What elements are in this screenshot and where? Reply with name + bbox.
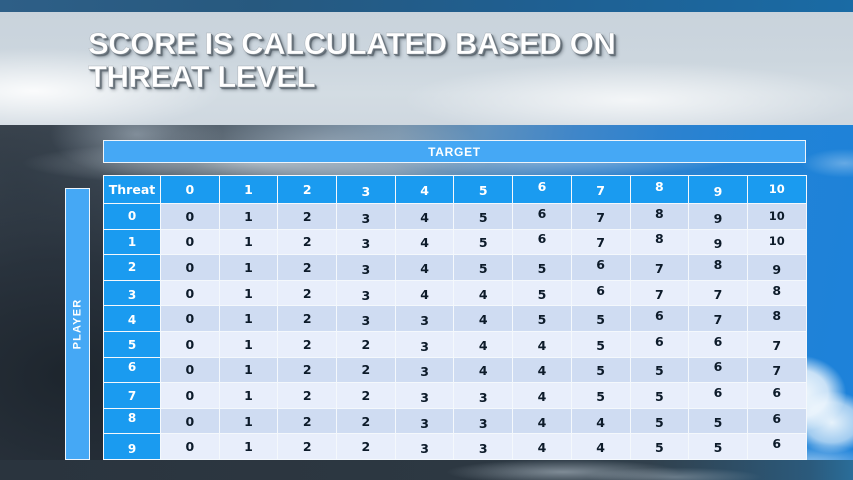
matrix-cell-value: 2 <box>362 414 371 429</box>
matrix-cell-value: 7 <box>714 287 723 302</box>
matrix-row-header-1: 1 <box>104 229 161 255</box>
matrix-cell: 1 <box>219 331 278 357</box>
matrix-cell-value: 2 <box>303 234 312 249</box>
matrix-col-header-text: 0 <box>185 182 194 197</box>
matrix-cell: 2 <box>278 357 337 383</box>
matrix-cell: 8 <box>689 255 748 281</box>
matrix-cell-value: 5 <box>655 440 664 455</box>
matrix-cell-value: 3 <box>420 339 429 354</box>
matrix-cell: 0 <box>161 434 220 460</box>
target-axis-label-bar: TARGET <box>103 140 806 163</box>
matrix-cell-value: 5 <box>596 363 605 378</box>
matrix-cell-value: 0 <box>185 234 194 249</box>
matrix-cell-value: 1 <box>244 414 253 429</box>
matrix-col-header-text: 5 <box>479 183 488 198</box>
matrix-cell: 5 <box>630 357 689 383</box>
matrix-cell-value: 4 <box>420 287 429 302</box>
table-row: 0012345678910 <box>104 204 807 230</box>
matrix-cell: 3 <box>337 229 396 255</box>
matrix-cell-value: 6 <box>772 411 781 426</box>
matrix-cell-value: 4 <box>596 415 605 430</box>
matrix-cell: 2 <box>337 383 396 409</box>
matrix-cell: 5 <box>513 255 572 281</box>
matrix-cell-value: 3 <box>362 236 371 251</box>
matrix-cell: 9 <box>747 255 806 281</box>
table-row: 801223344556 <box>104 408 807 434</box>
matrix-cell: 4 <box>571 408 630 434</box>
matrix-cell-value: 5 <box>655 389 664 404</box>
matrix-cell: 3 <box>395 357 454 383</box>
matrix-cell-value: 3 <box>479 390 488 405</box>
matrix-cell: 6 <box>689 331 748 357</box>
matrix-cell-value: 10 <box>769 209 785 223</box>
matrix-cell: 3 <box>337 255 396 281</box>
matrix-cell: 4 <box>454 331 513 357</box>
matrix-cell-value: 1 <box>244 362 253 377</box>
matrix-cell: 2 <box>278 229 337 255</box>
matrix-cell-value: 2 <box>362 439 371 454</box>
matrix-cell-value: 0 <box>185 362 194 377</box>
matrix-col-header-9: 9 <box>689 176 748 204</box>
matrix-cell-value: 0 <box>185 260 194 275</box>
matrix-cell-value: 2 <box>303 388 312 403</box>
matrix-cell: 2 <box>278 408 337 434</box>
matrix-cell-value: 6 <box>772 385 781 400</box>
matrix-cell-value: 7 <box>772 338 781 353</box>
matrix-cell: 6 <box>747 434 806 460</box>
matrix-cell: 5 <box>454 204 513 230</box>
matrix-cell-value: 2 <box>303 286 312 301</box>
matrix-cell: 1 <box>219 357 278 383</box>
table-row: 601223445567 <box>104 357 807 383</box>
matrix-cell-value: 2 <box>303 337 312 352</box>
matrix-col-header-10: 10 <box>747 176 806 204</box>
matrix-cell-value: 1 <box>244 234 253 249</box>
matrix-row-header-text: 3 <box>128 288 136 302</box>
matrix-col-header-2: 2 <box>278 176 337 204</box>
matrix-cell: 4 <box>513 434 572 460</box>
matrix-cell-value: 7 <box>596 235 605 250</box>
matrix-cell-value: 7 <box>655 287 664 302</box>
matrix-row-header-0: 0 <box>104 204 161 230</box>
matrix-cell-value: 6 <box>772 436 781 451</box>
matrix-cell: 3 <box>337 204 396 230</box>
matrix-cell: 5 <box>513 306 572 332</box>
matrix-cell: 10 <box>747 229 806 255</box>
matrix-col-header-text: 6 <box>538 179 547 194</box>
matrix-col-header-6: 6 <box>513 176 572 204</box>
matrix-cell: 1 <box>219 280 278 306</box>
matrix-col-header-text: 7 <box>596 183 605 198</box>
matrix-cell: 0 <box>161 204 220 230</box>
matrix-row-header-5: 5 <box>104 331 161 357</box>
matrix-cell: 3 <box>395 331 454 357</box>
matrix-cell-value: 5 <box>596 312 605 327</box>
matrix-cell-value: 1 <box>244 311 253 326</box>
matrix-cell-value: 9 <box>714 211 723 226</box>
matrix-cell: 0 <box>161 229 220 255</box>
matrix-cell: 4 <box>513 357 572 383</box>
matrix-cell-value: 3 <box>362 313 371 328</box>
matrix-cell-value: 4 <box>538 415 547 430</box>
matrix-cell-value: 3 <box>420 390 429 405</box>
matrix-cell-value: 5 <box>479 261 488 276</box>
matrix-cell-value: 2 <box>303 362 312 377</box>
matrix-cell: 6 <box>513 229 572 255</box>
matrix-cell: 1 <box>219 306 278 332</box>
matrix-cell-value: 8 <box>772 283 781 298</box>
matrix-cell: 6 <box>630 331 689 357</box>
matrix-row-header-text: 8 <box>128 411 136 425</box>
matrix-cell: 6 <box>689 383 748 409</box>
matrix-cell-value: 8 <box>772 308 781 323</box>
matrix-cell: 2 <box>278 280 337 306</box>
matrix-cell-value: 8 <box>655 206 664 221</box>
matrix-cell-value: 1 <box>244 260 253 275</box>
player-axis-label-bar: PLAYER <box>65 188 90 460</box>
matrix-cell: 6 <box>571 255 630 281</box>
matrix-cell: 5 <box>571 331 630 357</box>
matrix-cell-value: 2 <box>303 311 312 326</box>
matrix-cell: 3 <box>395 434 454 460</box>
matrix-cell: 7 <box>630 280 689 306</box>
matrix-cell: 1 <box>219 255 278 281</box>
matrix-cell-value: 5 <box>714 440 723 455</box>
matrix-cell-value: 1 <box>244 388 253 403</box>
matrix-cell-value: 0 <box>185 414 194 429</box>
bottom-dark-band <box>0 460 853 480</box>
matrix-col-header-text: 10 <box>769 182 785 196</box>
matrix-cell-value: 3 <box>362 262 371 277</box>
matrix-cell-value: 1 <box>244 286 253 301</box>
matrix-row-header-3: 3 <box>104 280 161 306</box>
matrix-cell-value: 4 <box>538 440 547 455</box>
matrix-cell-value: 8 <box>714 257 723 272</box>
matrix-row-header-9: 9 <box>104 434 161 460</box>
matrix-cell-value: 4 <box>538 363 547 378</box>
matrix-cell-value: 6 <box>596 257 605 272</box>
matrix-cell-value: 4 <box>596 440 605 455</box>
matrix-cell: 1 <box>219 383 278 409</box>
matrix-cell-value: 5 <box>655 415 664 430</box>
matrix-cell: 3 <box>395 383 454 409</box>
matrix-cell: 3 <box>454 383 513 409</box>
matrix-cell: 10 <box>747 204 806 230</box>
matrix-cell-value: 2 <box>362 337 371 352</box>
matrix-cell: 3 <box>337 280 396 306</box>
matrix-cell-value: 4 <box>479 338 488 353</box>
matrix-cell-value: 5 <box>538 312 547 327</box>
matrix-cell-value: 3 <box>420 441 429 456</box>
matrix-cell: 1 <box>219 204 278 230</box>
matrix-cell: 0 <box>161 255 220 281</box>
matrix-cell-value: 6 <box>538 231 547 246</box>
matrix-row-header-text: 5 <box>128 338 136 352</box>
matrix-cell: 2 <box>278 434 337 460</box>
matrix-cell: 5 <box>689 434 748 460</box>
matrix-cell: 1 <box>219 408 278 434</box>
matrix-cell-value: 5 <box>655 363 664 378</box>
matrix-cell: 5 <box>571 383 630 409</box>
matrix-row-header-text: 2 <box>128 260 136 274</box>
table-row: 901223344556 <box>104 434 807 460</box>
matrix-cell-value: 3 <box>362 211 371 226</box>
matrix-cell: 7 <box>630 255 689 281</box>
matrix-cell: 6 <box>630 306 689 332</box>
table-row: 201234556789 <box>104 255 807 281</box>
matrix-cell: 9 <box>689 229 748 255</box>
matrix-header: Threat 012345678910 <box>104 176 807 204</box>
matrix-cell-value: 6 <box>714 359 723 374</box>
matrix-row-header-6: 6 <box>104 357 161 383</box>
matrix-cell-value: 2 <box>303 439 312 454</box>
matrix-cell-value: 6 <box>655 334 664 349</box>
matrix-row-header-text: 9 <box>128 442 136 456</box>
matrix-cell-value: 4 <box>538 389 547 404</box>
matrix-cell: 5 <box>630 383 689 409</box>
matrix-col-header-8: 8 <box>630 176 689 204</box>
matrix-cell: 6 <box>513 204 572 230</box>
matrix-cell: 7 <box>689 306 748 332</box>
matrix-header-row: Threat 012345678910 <box>104 176 807 204</box>
matrix-col-header-text: 3 <box>362 184 371 199</box>
target-axis-label-text: TARGET <box>428 145 481 159</box>
matrix-cell: 0 <box>161 357 220 383</box>
matrix-cell: 5 <box>630 434 689 460</box>
matrix-cell: 4 <box>454 280 513 306</box>
table-row: 1012345678910 <box>104 229 807 255</box>
table-row: 401233455678 <box>104 306 807 332</box>
player-axis-label-text: PLAYER <box>72 299 84 350</box>
matrix-cell: 0 <box>161 408 220 434</box>
matrix-cell: 3 <box>395 306 454 332</box>
matrix-cell: 2 <box>278 306 337 332</box>
matrix-cell: 7 <box>747 331 806 357</box>
matrix-cell: 4 <box>454 357 513 383</box>
matrix-cell-value: 6 <box>655 308 664 323</box>
matrix-cell: 4 <box>513 331 572 357</box>
matrix-cell: 2 <box>337 408 396 434</box>
matrix-cell-value: 7 <box>772 363 781 378</box>
matrix-cell-value: 2 <box>362 388 371 403</box>
matrix-cell: 7 <box>689 280 748 306</box>
matrix-cell-value: 2 <box>303 209 312 224</box>
matrix-cell-value: 9 <box>772 262 781 277</box>
matrix-cell: 6 <box>747 383 806 409</box>
matrix-cell: 2 <box>278 331 337 357</box>
matrix-cell: 5 <box>571 357 630 383</box>
matrix-cell-value: 4 <box>479 287 488 302</box>
matrix-cell: 5 <box>630 408 689 434</box>
matrix-cell: 8 <box>747 280 806 306</box>
matrix-cell: 4 <box>571 434 630 460</box>
matrix-cell: 8 <box>630 204 689 230</box>
matrix-cell-value: 2 <box>303 260 312 275</box>
matrix-cell: 5 <box>454 255 513 281</box>
matrix-cell: 6 <box>747 408 806 434</box>
matrix-col-header-3: 3 <box>337 176 396 204</box>
matrix-corner-header: Threat <box>104 176 161 204</box>
matrix-row-header-text: 6 <box>128 360 136 374</box>
matrix-cell: 2 <box>337 331 396 357</box>
matrix-cell: 6 <box>571 280 630 306</box>
matrix-cell: 0 <box>161 280 220 306</box>
matrix-cell-value: 0 <box>185 286 194 301</box>
matrix-cell: 5 <box>454 229 513 255</box>
matrix-col-header-text: 2 <box>303 182 312 197</box>
matrix-cell-value: 4 <box>420 210 429 225</box>
matrix-cell-value: 5 <box>596 389 605 404</box>
matrix-cell-value: 0 <box>185 311 194 326</box>
matrix-cell: 8 <box>747 306 806 332</box>
matrix-cell-value: 3 <box>479 416 488 431</box>
matrix-cell: 2 <box>278 383 337 409</box>
matrix-cell: 1 <box>219 434 278 460</box>
matrix-cell-value: 3 <box>362 288 371 303</box>
matrix-cell: 2 <box>278 204 337 230</box>
matrix-row-header-7: 7 <box>104 383 161 409</box>
matrix-row-header-text: 7 <box>128 389 136 403</box>
top-sky-strip <box>0 0 853 12</box>
matrix-cell: 1 <box>219 229 278 255</box>
matrix-cell-value: 0 <box>185 388 194 403</box>
matrix-cell: 5 <box>513 280 572 306</box>
matrix-cell: 5 <box>689 408 748 434</box>
matrix-cell: 0 <box>161 383 220 409</box>
matrix-cell-value: 7 <box>596 210 605 225</box>
matrix-cell-value: 5 <box>714 415 723 430</box>
matrix-cell: 3 <box>454 408 513 434</box>
slide-canvas: SCORE IS CALCULATED BASED ON THREAT LEVE… <box>0 0 853 480</box>
matrix-col-header-5: 5 <box>454 176 513 204</box>
matrix-row-header-8: 8 <box>104 408 161 434</box>
matrix-cell-value: 1 <box>244 209 253 224</box>
matrix-cell: 5 <box>571 306 630 332</box>
matrix-row-header-text: 0 <box>128 209 136 223</box>
matrix-cell: 2 <box>337 357 396 383</box>
matrix-cell: 7 <box>747 357 806 383</box>
score-matrix-table: Threat 012345678910 00123456789101012345… <box>103 175 807 480</box>
matrix-cell-value: 1 <box>244 439 253 454</box>
matrix-cell-value: 6 <box>714 385 723 400</box>
matrix-cell-value: 0 <box>185 209 194 224</box>
matrix-cell-value: 3 <box>420 416 429 431</box>
matrix-cell-value: 4 <box>479 312 488 327</box>
matrix-col-header-text: 4 <box>420 183 429 198</box>
matrix-cell-value: 5 <box>538 287 547 302</box>
matrix-cell: 8 <box>630 229 689 255</box>
matrix-cell: 2 <box>337 434 396 460</box>
matrix-cell-value: 0 <box>185 337 194 352</box>
matrix-cell: 3 <box>395 408 454 434</box>
matrix-cell-value: 0 <box>185 439 194 454</box>
matrix-row-header-2: 2 <box>104 255 161 281</box>
matrix-cell: 6 <box>689 357 748 383</box>
matrix-col-header-0: 0 <box>161 176 220 204</box>
matrix-cell: 0 <box>161 331 220 357</box>
matrix-body: 0012345678910101234567891020123455678930… <box>104 204 807 480</box>
matrix-cell-value: 6 <box>538 206 547 221</box>
matrix-row-header-text: 4 <box>128 313 136 327</box>
matrix-cell-value: 3 <box>479 441 488 456</box>
matrix-cell-value: 4 <box>420 261 429 276</box>
matrix-cell-value: 2 <box>362 362 371 377</box>
matrix-cell-value: 5 <box>538 261 547 276</box>
matrix-cell: 3 <box>337 306 396 332</box>
matrix-col-header-text: 1 <box>244 182 253 197</box>
matrix-cell: 4 <box>454 306 513 332</box>
matrix-cell-value: 6 <box>714 334 723 349</box>
matrix-cell-value: 4 <box>538 338 547 353</box>
matrix-row-header-text: 1 <box>128 235 136 249</box>
matrix-cell: 0 <box>161 306 220 332</box>
matrix-row-header-4: 4 <box>104 306 161 332</box>
matrix-cell-value: 6 <box>596 283 605 298</box>
matrix-col-header-4: 4 <box>395 176 454 204</box>
matrix-cell: 4 <box>513 383 572 409</box>
matrix-cell: 3 <box>454 434 513 460</box>
matrix-cell-value: 8 <box>655 231 664 246</box>
matrix-col-header-7: 7 <box>571 176 630 204</box>
matrix-cell-value: 4 <box>479 363 488 378</box>
matrix-cell-value: 1 <box>244 337 253 352</box>
matrix-cell-value: 5 <box>479 210 488 225</box>
matrix-cell-value: 7 <box>655 261 664 276</box>
matrix-cell-value: 4 <box>420 235 429 250</box>
matrix-cell: 4 <box>395 229 454 255</box>
matrix-cell: 4 <box>513 408 572 434</box>
matrix-cell-value: 5 <box>479 235 488 250</box>
matrix-cell: 4 <box>395 255 454 281</box>
matrix-col-header-text: 8 <box>655 179 664 194</box>
matrix-cell-value: 9 <box>714 236 723 251</box>
matrix-col-header-1: 1 <box>219 176 278 204</box>
matrix-cell-value: 3 <box>420 364 429 379</box>
matrix-cell-value: 10 <box>769 234 785 248</box>
table-row: 301234456778 <box>104 280 807 306</box>
matrix-col-header-text: 9 <box>714 184 723 199</box>
matrix-cell-value: 5 <box>596 338 605 353</box>
table-row: 701223345566 <box>104 383 807 409</box>
matrix-cell-value: 2 <box>303 414 312 429</box>
matrix-cell: 7 <box>571 229 630 255</box>
matrix-cell: 7 <box>571 204 630 230</box>
matrix-cell: 9 <box>689 204 748 230</box>
matrix-cell-value: 3 <box>420 313 429 328</box>
matrix-cell: 4 <box>395 204 454 230</box>
matrix-cell: 4 <box>395 280 454 306</box>
table-row: 501223445667 <box>104 331 807 357</box>
page-title: SCORE IS CALCULATED BASED ON THREAT LEVE… <box>88 28 728 94</box>
matrix-cell: 2 <box>278 255 337 281</box>
matrix-cell-value: 7 <box>714 312 723 327</box>
